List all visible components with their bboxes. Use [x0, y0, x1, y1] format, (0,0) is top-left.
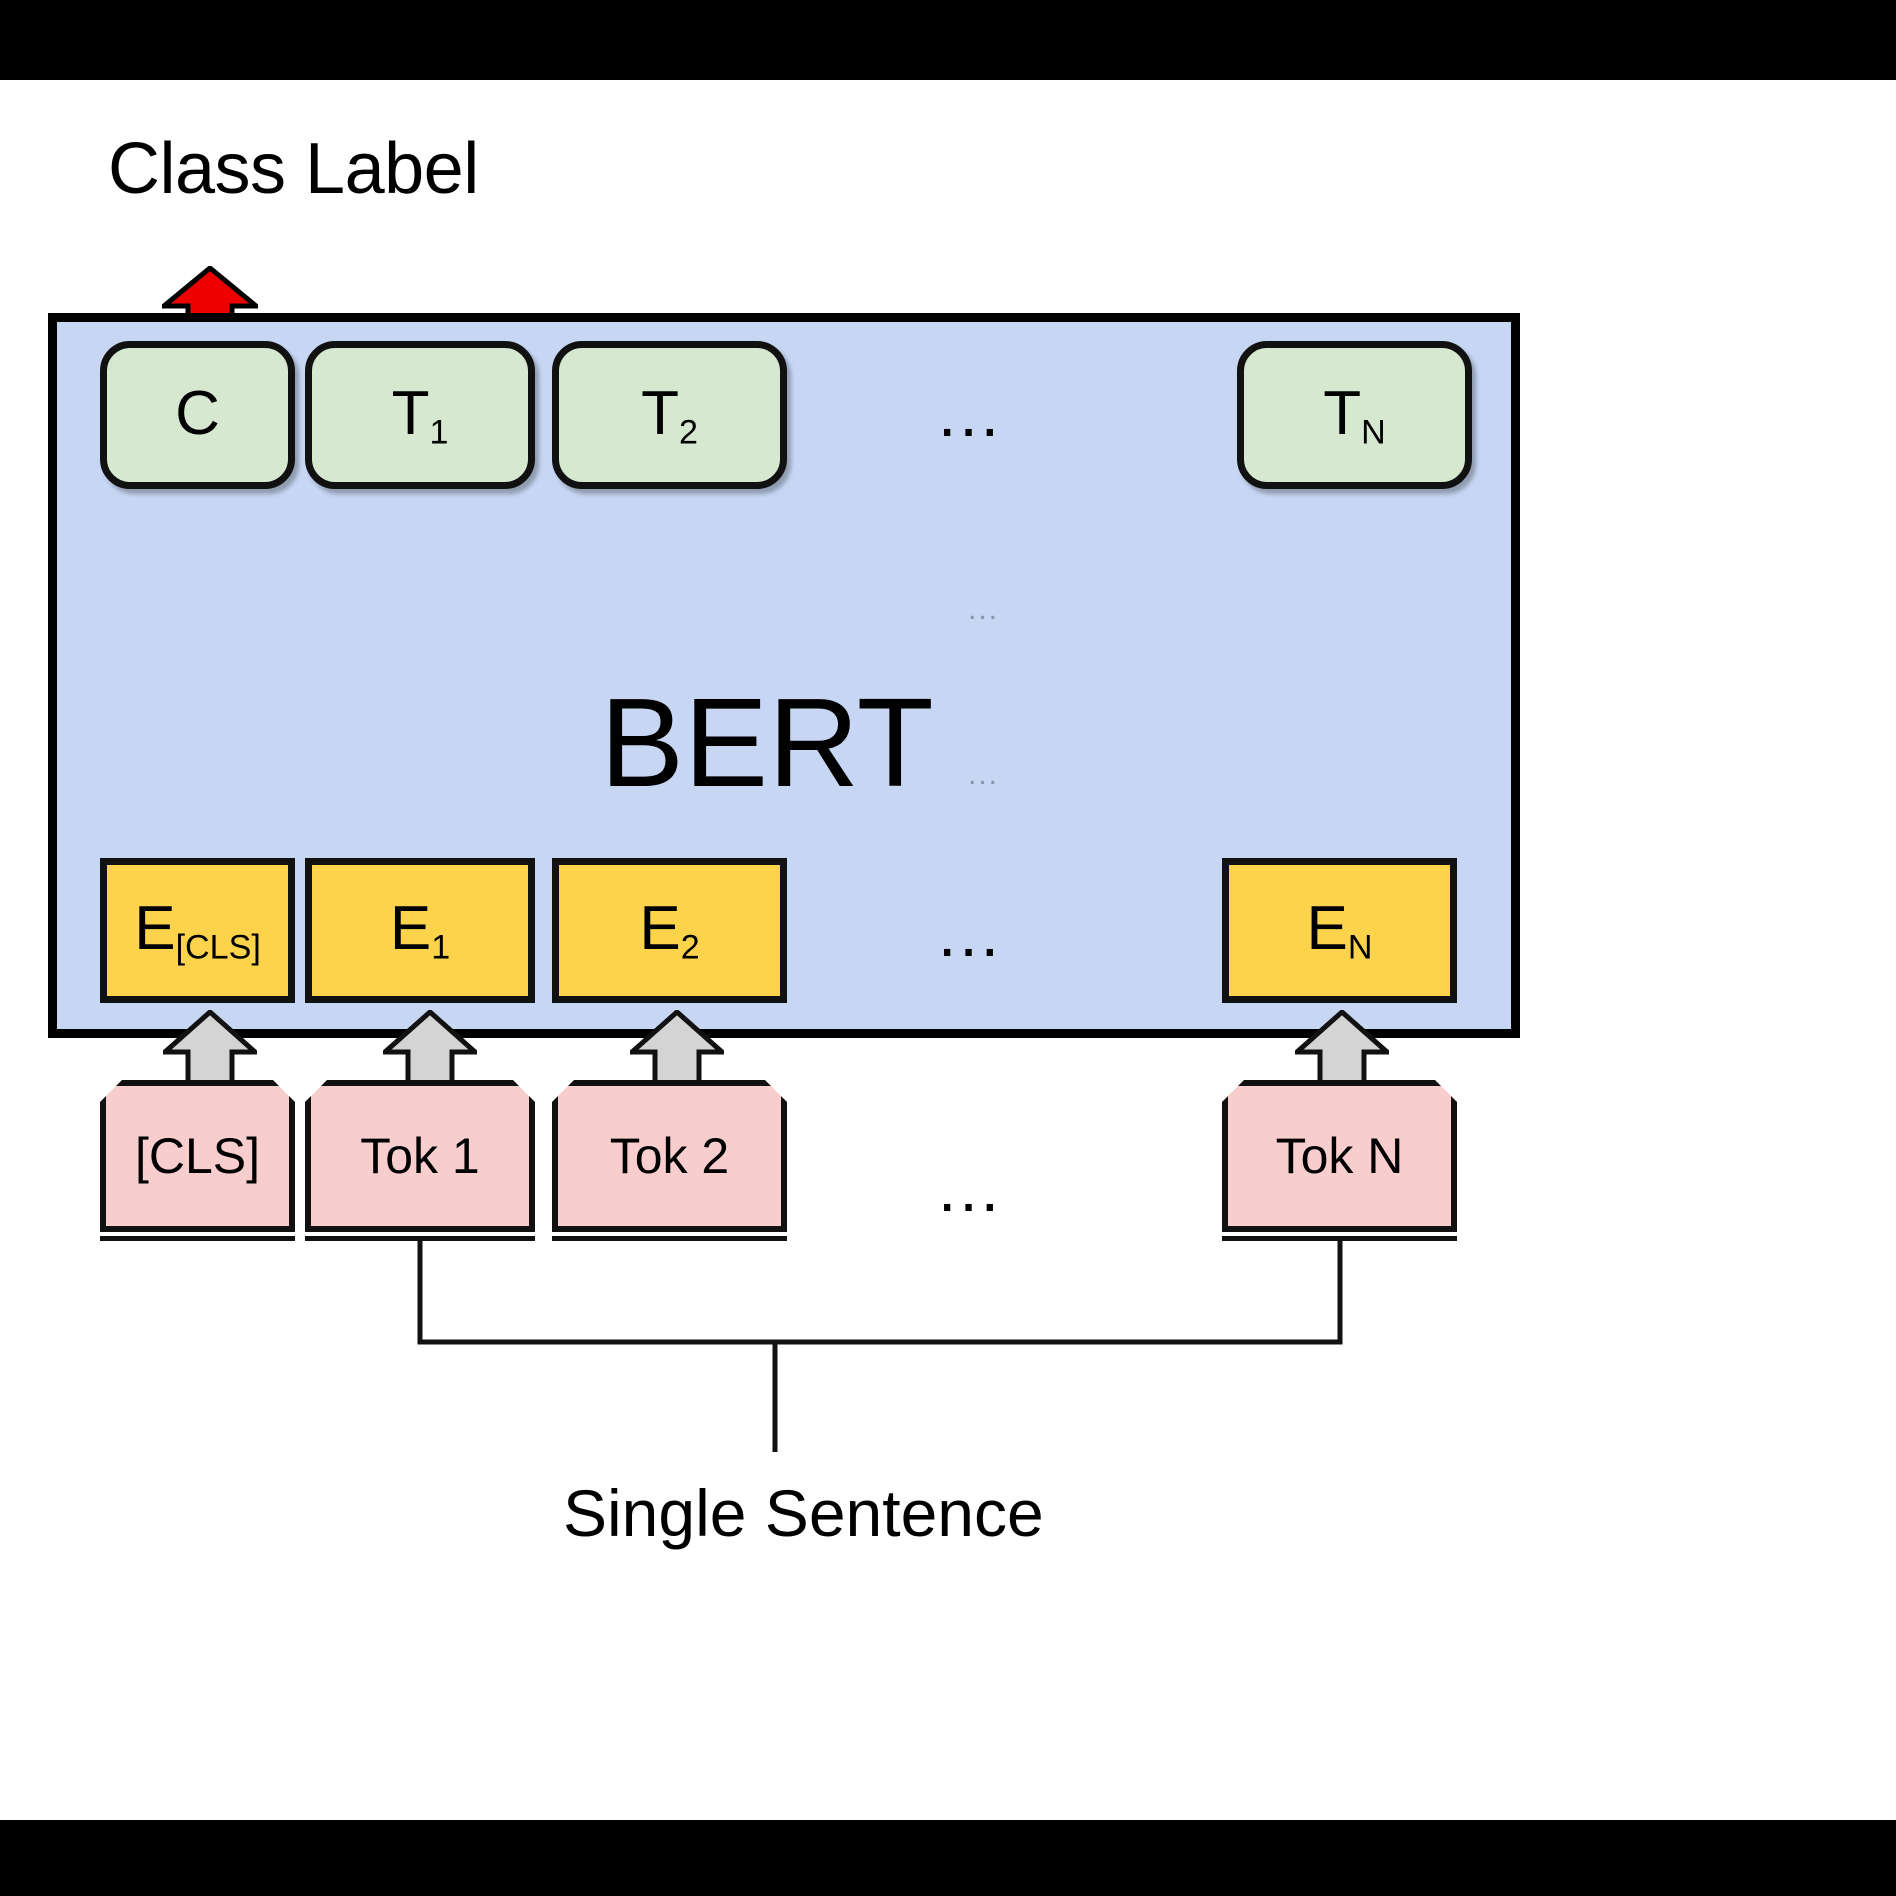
letterbox-bottom [0, 1820, 1896, 1896]
embedding-e2[interactable]: E2 [552, 858, 787, 1003]
embedding-e1-label: E1 [390, 893, 450, 968]
network-upper-ellipsis: ... [968, 595, 999, 625]
embedding-ecls[interactable]: E[CLS] [100, 858, 295, 1003]
embedding-e1[interactable]: E1 [305, 858, 535, 1003]
input-token-tokn[interactable]: Tok N [1222, 1080, 1457, 1232]
embedding-en[interactable]: EN [1222, 858, 1457, 1003]
embedding-row-ellipsis: ... [938, 900, 1002, 966]
input-token-cls-label: [CLS] [135, 1127, 260, 1185]
output-token-t2-label: T2 [641, 378, 698, 453]
input-arrow-tok1-icon [383, 1010, 477, 1088]
output-token-t1[interactable]: T1 [305, 341, 535, 489]
output-token-c[interactable]: C [100, 341, 295, 489]
embedding-ecls-label: E[CLS] [134, 893, 261, 968]
diagram-area: Class Label [0, 80, 1896, 1820]
input-arrow-tokn-icon [1295, 1010, 1389, 1088]
input-token-tokn-label: Tok N [1276, 1127, 1404, 1185]
output-token-tn-label: TN [1323, 378, 1386, 453]
input-token-cls-base [100, 1236, 295, 1241]
output-row-ellipsis: ... [938, 380, 1002, 446]
output-token-t2[interactable]: T2 [552, 341, 787, 489]
input-token-tok2[interactable]: Tok 2 [552, 1080, 787, 1232]
bert-title: BERT [600, 680, 934, 806]
output-token-tn[interactable]: TN [1237, 341, 1472, 489]
input-token-cls[interactable]: [CLS] [100, 1080, 295, 1232]
single-sentence-label: Single Sentence [563, 1480, 1044, 1546]
input-arrow-cls-icon [163, 1010, 257, 1088]
input-token-tok1-label: Tok 1 [360, 1127, 480, 1185]
embedding-e2-label: E2 [639, 893, 699, 968]
input-token-row-ellipsis: ... [938, 1155, 1002, 1221]
figure-canvas: Class Label [0, 0, 1896, 1896]
single-sentence-bracket [400, 1230, 1400, 1470]
network-lower-ellipsis: ... [968, 760, 999, 790]
input-arrow-tok2-icon [630, 1010, 724, 1088]
output-token-t1-label: T1 [392, 378, 449, 453]
class-label-text: Class Label [108, 128, 479, 210]
output-token-c-label: C [175, 378, 220, 453]
input-token-tok1[interactable]: Tok 1 [305, 1080, 535, 1232]
letterbox-top [0, 0, 1896, 80]
input-token-tok2-label: Tok 2 [610, 1127, 730, 1185]
embedding-en-label: EN [1307, 893, 1373, 968]
